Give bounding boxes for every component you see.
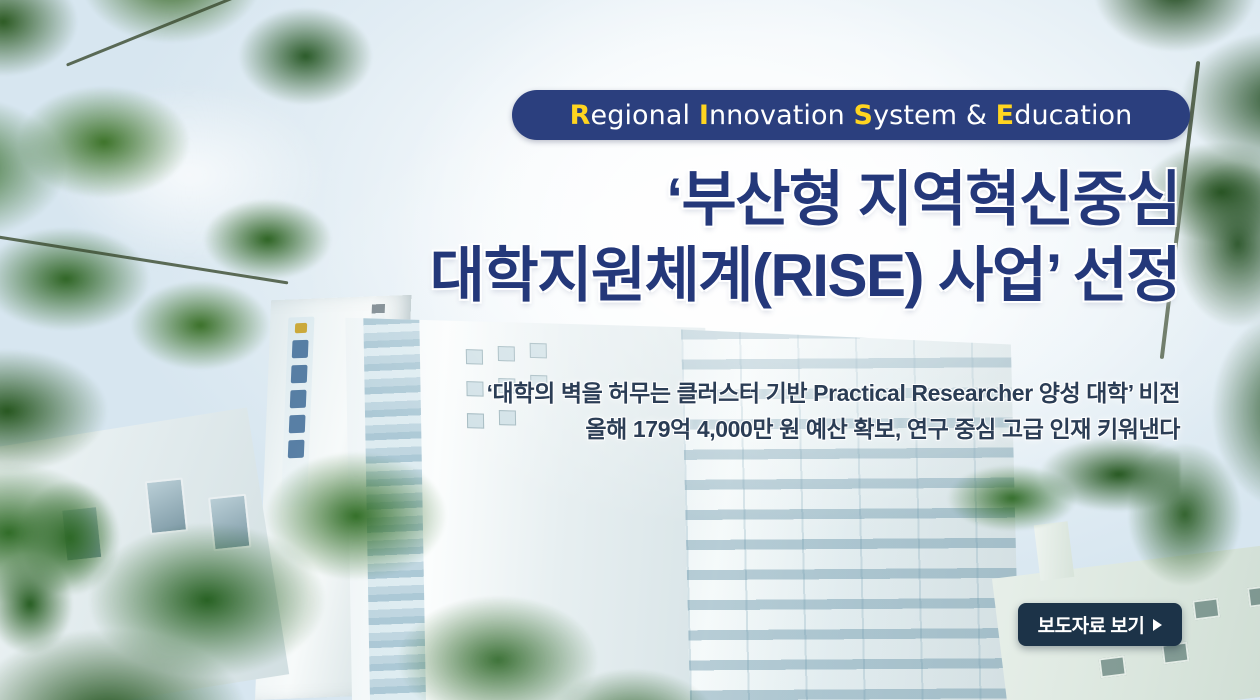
headline-block: ‘부산형 지역혁신중심 대학지원체계(RISE) 사업’ 선정	[0, 168, 1240, 307]
rise-acronym-badge: Regional Innovation System & Education	[512, 90, 1190, 140]
headline-line-2: 대학지원체계(RISE) 사업’ 선정	[0, 244, 1240, 308]
play-triangle-icon	[1153, 619, 1162, 631]
subcopy-line-1: ‘대학의 벽을 허무는 클러스터 기반 Practical Researcher…	[0, 376, 1240, 412]
badge-word-egional: egional	[591, 100, 699, 131]
badge-word-ducation: ducation	[1014, 100, 1132, 131]
press-release-button-label: 보도자료 보기	[1038, 611, 1145, 638]
subcopy-line-2: 올해 179억 4,000만 원 예산 확보, 연구 중심 고급 인재 키워낸다	[0, 412, 1240, 448]
badge-word-ystem-amp: ystem &	[873, 100, 996, 131]
view-press-release-button[interactable]: 보도자료 보기	[1018, 603, 1182, 646]
badge-letter-s: S	[854, 100, 874, 131]
badge-word-nnovation: nnovation	[709, 100, 854, 131]
headline-line-1: ‘부산형 지역혁신중심	[0, 168, 1240, 232]
subcopy-block: ‘대학의 벽을 허무는 클러스터 기반 Practical Researcher…	[0, 376, 1240, 447]
badge-letter-r: R	[570, 100, 591, 131]
badge-letter-i: I	[699, 100, 709, 131]
rise-badge-text: Regional Innovation System & Education	[570, 100, 1133, 131]
badge-letter-e: E	[996, 100, 1015, 131]
rise-promo-banner: Regional Innovation System & Education ‘…	[0, 0, 1260, 700]
banner-content: Regional Innovation System & Education ‘…	[0, 0, 1260, 700]
